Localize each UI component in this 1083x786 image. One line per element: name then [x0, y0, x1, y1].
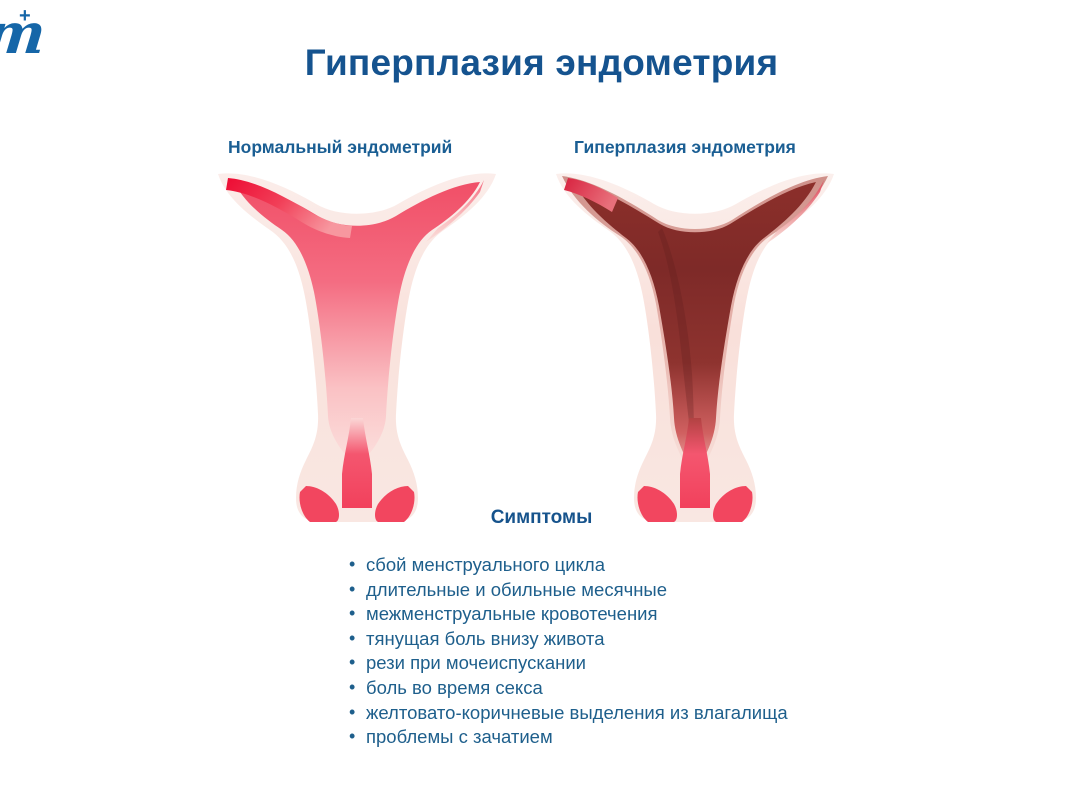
- illustration-uterus-hyperplasia: [550, 168, 840, 523]
- list-item: боль во время секса: [349, 676, 788, 701]
- logo-plus-icon: +: [19, 6, 31, 26]
- list-item: длительные и обильные месячные: [349, 578, 788, 603]
- page-title: Гиперплазия эндометрия: [0, 42, 1083, 84]
- list-item: межменструальные кровотечения: [349, 602, 788, 627]
- list-item: сбой менструального цикла: [349, 553, 788, 578]
- illustration-uterus-normal: [212, 168, 502, 523]
- symptoms-list: сбой менструального цикла длительные и о…: [349, 553, 788, 750]
- panel-caption-hyperplasia: Гиперплазия эндометрия: [574, 137, 796, 158]
- list-item: желтовато-коричневые выделения из влагал…: [349, 701, 788, 726]
- list-item: проблемы с зачатием: [349, 725, 788, 750]
- uterus-hyperplasia-svg: [550, 168, 840, 523]
- symptoms-heading: Симптомы: [0, 507, 1083, 529]
- list-item: рези при мочеиспускании: [349, 651, 788, 676]
- panel-caption-normal: Нормальный эндометрий: [228, 137, 452, 158]
- slide-canvas: m + Гиперплазия эндометрия Нормальный эн…: [0, 0, 1083, 786]
- uterus-normal-svg: [212, 168, 502, 523]
- list-item: тянущая боль внизу живота: [349, 627, 788, 652]
